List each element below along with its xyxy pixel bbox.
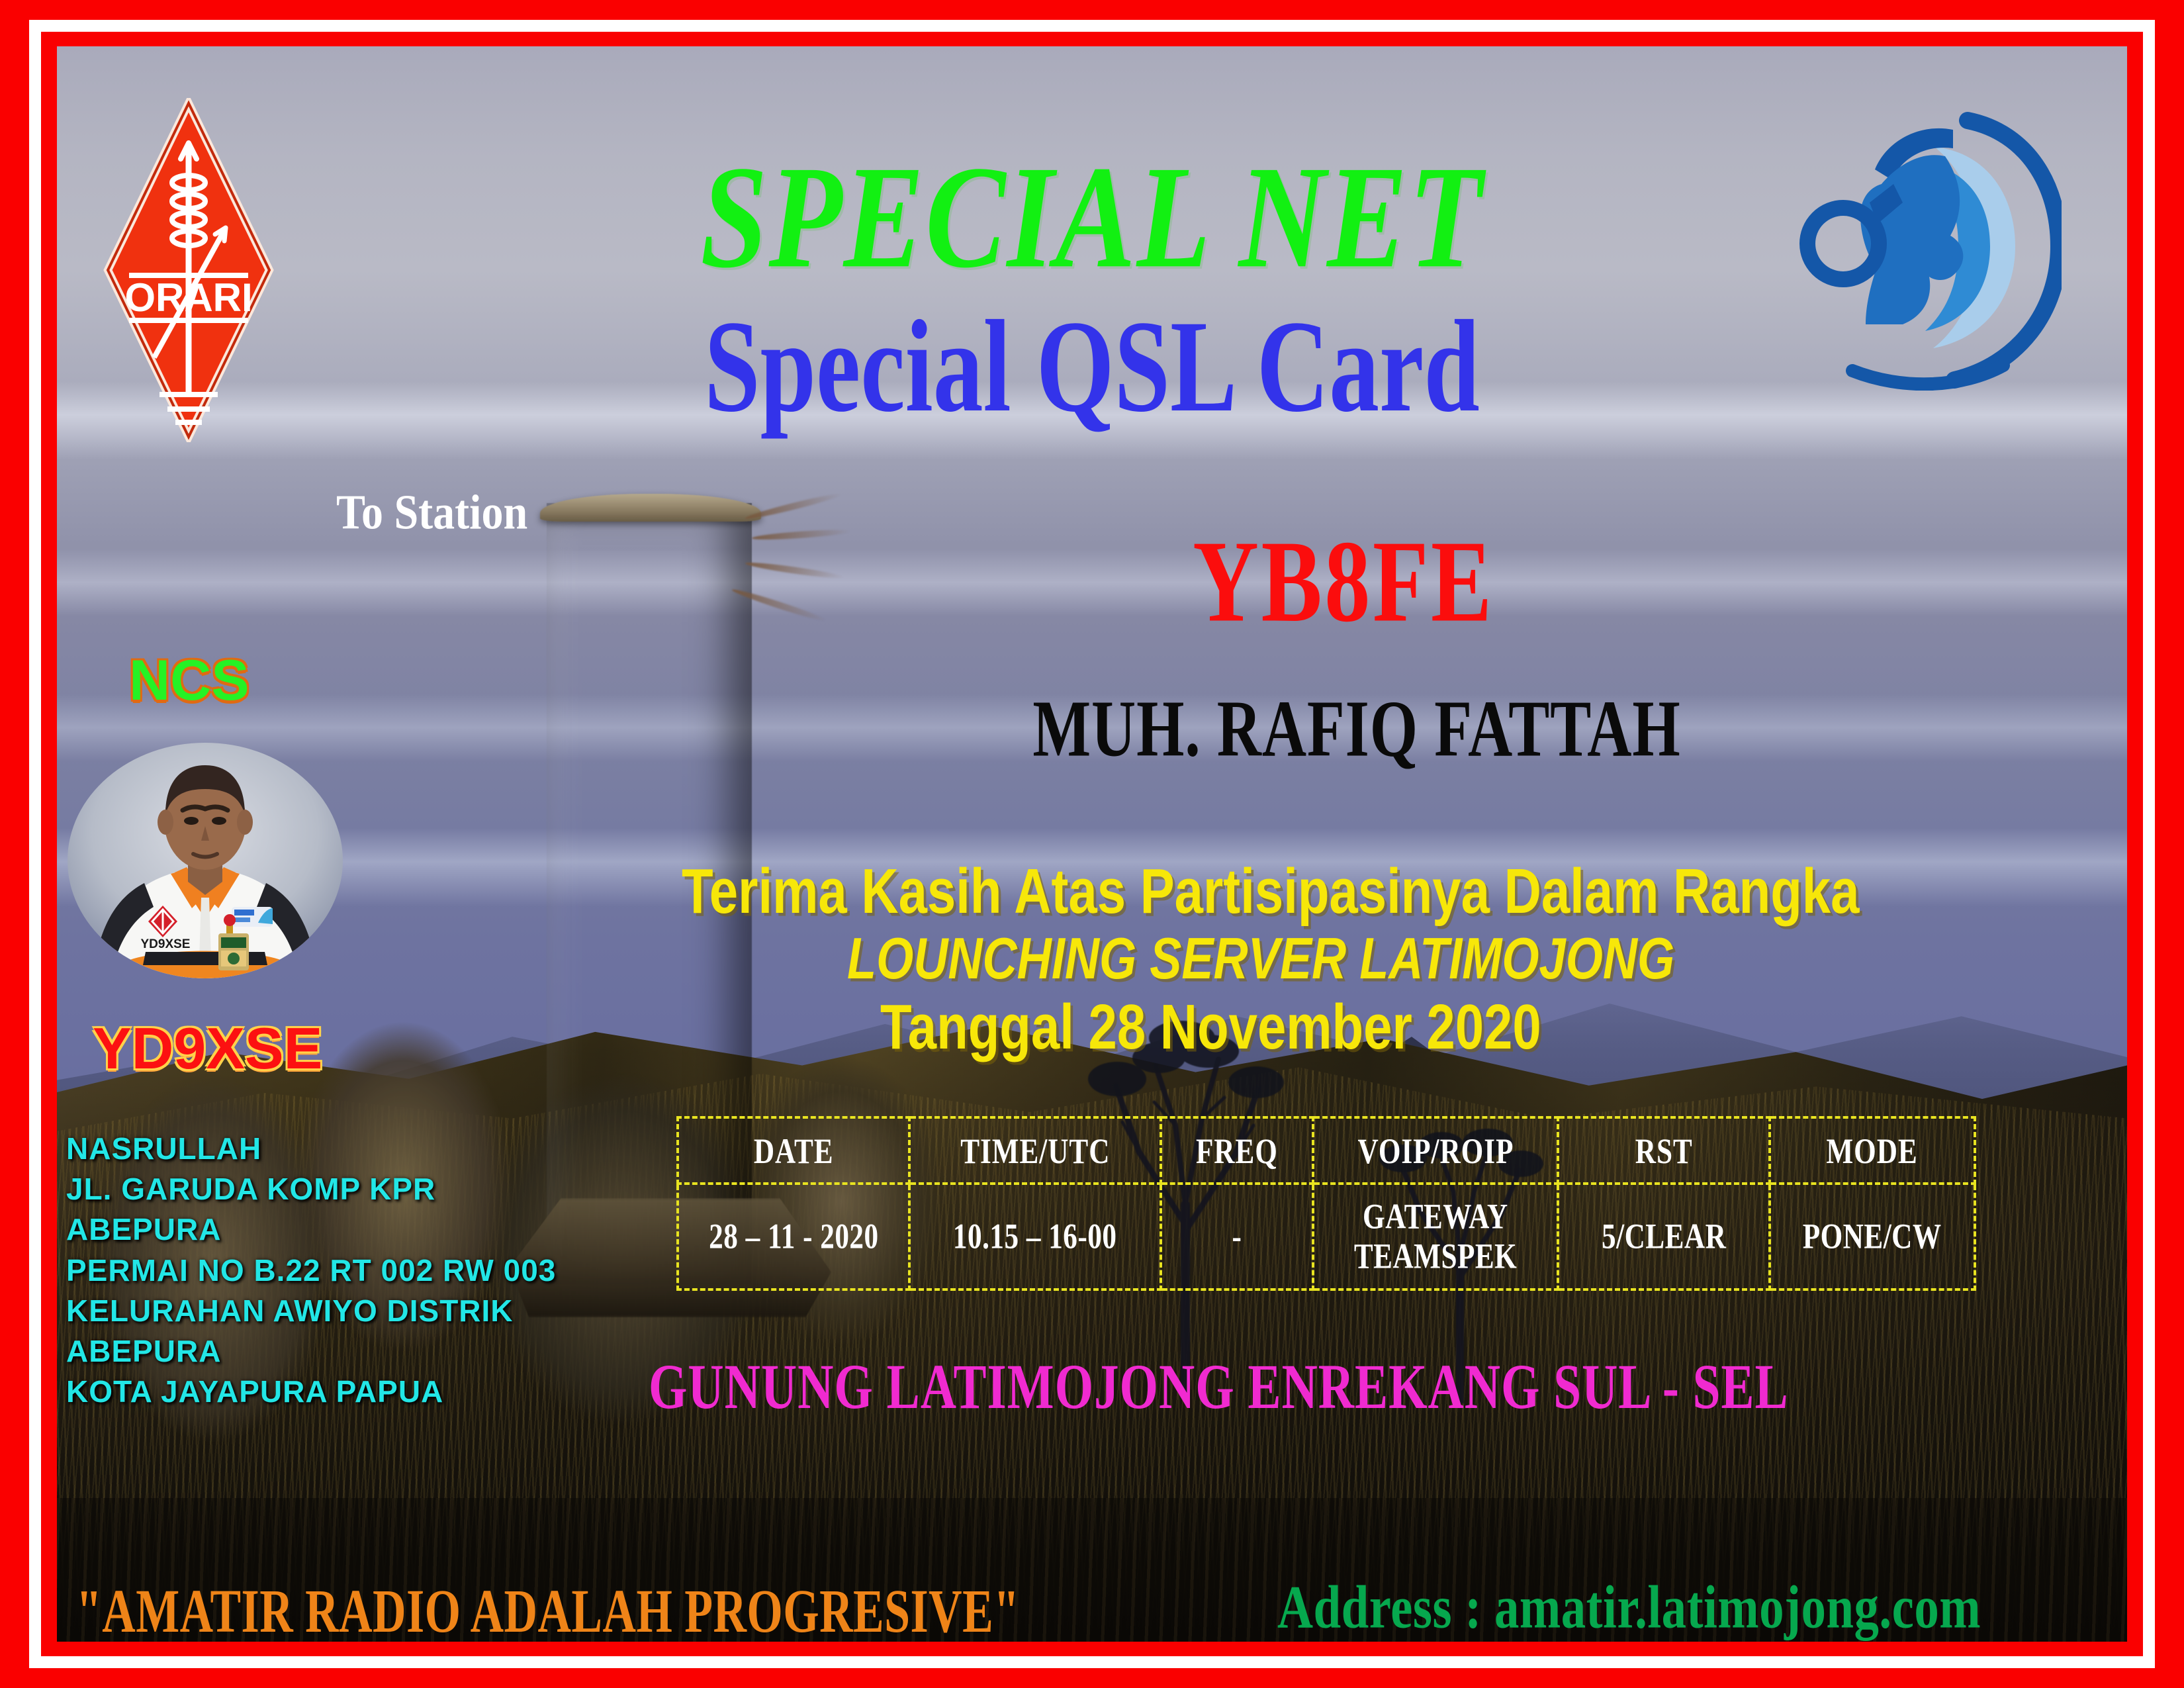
cell-voip: GATEWAY TEAMSPEK <box>1313 1184 1558 1289</box>
cell-time: 10.15 – 16-00 <box>909 1184 1161 1289</box>
cell-mode: PONE/CW <box>1770 1184 1975 1289</box>
event-text: LOUNCHING SERVER LATIMOJONG <box>847 930 1979 988</box>
table-row: 28 – 11 - 2020 10.15 – 16-00 - GATEWAY T… <box>678 1184 1975 1289</box>
address-line: ABEPURA <box>66 1209 609 1250</box>
address-line: ABEPURA <box>66 1331 609 1372</box>
web-address-text: Address : amatir.latimojong.com <box>1277 1577 1981 1638</box>
address-line: KELURAHAN AWIYO DISTRIK <box>66 1291 609 1331</box>
qsl-card: ORARI SPECIAL NET Special QSL Card To St… <box>0 0 2184 1688</box>
table-header-freq: FREQ <box>1161 1117 1313 1184</box>
cell-freq: - <box>1161 1184 1313 1289</box>
table-header-voip: VOIP/ROIP <box>1313 1117 1558 1184</box>
table-header-rst: RST <box>1558 1117 1770 1184</box>
address-line: PERMAI NO B.22 RT 002 RW 003 <box>66 1250 609 1291</box>
station-callsign: YB8FE <box>978 523 1709 640</box>
page-title: SPECIAL NET <box>0 144 2184 291</box>
ncs-operator-photo: YD9XSE <box>66 741 344 980</box>
cell-date: 28 – 11 - 2020 <box>678 1184 909 1289</box>
station-address-block: NASRULLAH JL. GARUDA KOMP KPR ABEPURA PE… <box>66 1129 609 1412</box>
event-date-text: Tanggal 28 November 2020 <box>880 996 1981 1059</box>
cell-rst: 5/CLEAR <box>1558 1184 1770 1289</box>
slogan-text: "AMATIR RADIO ADALAH PROGRESIVE" <box>76 1581 1019 1642</box>
ncs-callsign: YD9XSE <box>93 1019 322 1078</box>
shirt-callsign-text: YD9XSE <box>141 937 191 951</box>
table-header-row: DATE TIME/UTC FREQ VOIP/ROIP RST MODE <box>678 1117 1975 1184</box>
page-subtitle: Special QSL Card <box>44 301 2140 433</box>
location-text: GUNUNG LATIMOJONG ENREKANG SUL - SEL <box>649 1356 1831 1419</box>
thanks-text: Terima Kasih Atas Partisipasinya Dalam R… <box>682 861 1989 923</box>
address-line: KOTA JAYAPURA PAPUA <box>66 1372 609 1412</box>
to-station-label: To Station <box>336 489 527 538</box>
table-header-time: TIME/UTC <box>909 1117 1161 1184</box>
table-header-mode: MODE <box>1770 1117 1975 1184</box>
address-line: NASRULLAH <box>66 1129 609 1169</box>
operator-name: MUH. RAFIQ FATTAH <box>834 688 1880 769</box>
address-line: JL. GARUDA KOMP KPR <box>66 1169 609 1209</box>
ncs-label: NCS <box>129 652 250 709</box>
table-header-date: DATE <box>678 1117 909 1184</box>
qso-log-table: DATE TIME/UTC FREQ VOIP/ROIP RST MODE 28… <box>676 1116 1976 1291</box>
